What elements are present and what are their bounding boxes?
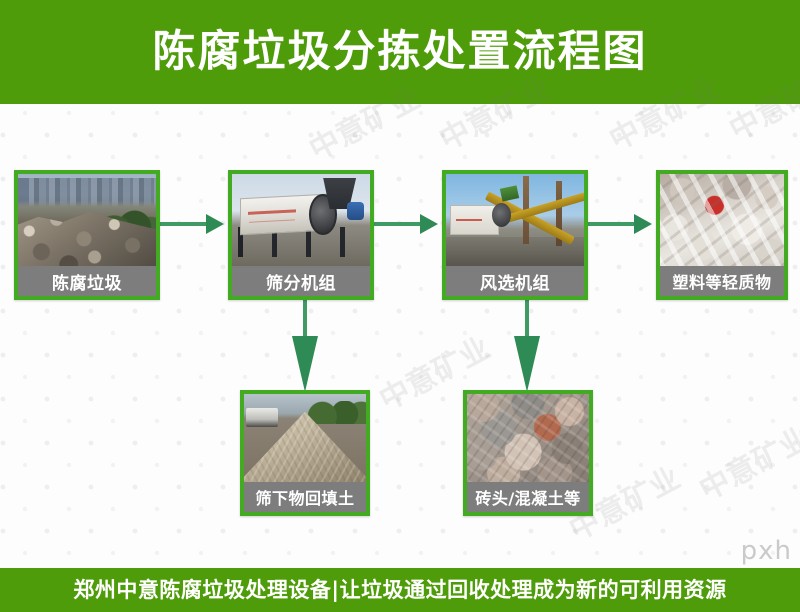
arrow-head-icon	[514, 336, 540, 392]
arrow-shaft	[586, 222, 636, 226]
flow-node-aged-waste[interactable]: 陈腐垃圾	[14, 170, 160, 300]
air-separation-plant-photo	[446, 174, 584, 266]
watermark-brand: pxh	[741, 536, 792, 566]
photo-art	[446, 174, 584, 266]
flow-node-label: 陈腐垃圾	[18, 266, 156, 296]
arrow-shaft	[372, 222, 422, 226]
footer-tagline: 郑州中意陈腐垃圾处理设备|让垃圾通过回收处理成为新的可利用资源	[73, 580, 726, 601]
watermark-diagonal: 中意矿业	[690, 414, 800, 509]
landfill-aged-waste-photo	[18, 174, 156, 266]
flow-node-light-plastics[interactable]: 塑料等轻质物	[656, 170, 788, 300]
plastic-light-material-photo	[660, 174, 784, 266]
photo-art	[18, 174, 156, 266]
tree-cluster-icon	[95, 194, 156, 251]
arrow-head-icon	[634, 214, 652, 234]
truck-icon	[246, 408, 278, 427]
arrow-head-icon	[292, 336, 318, 392]
green-chute-icon	[500, 185, 519, 201]
flow-node-label: 砖头/混凝土等	[467, 482, 589, 512]
arrow-shaft	[303, 300, 307, 340]
flow-node-label: 筛分机组	[232, 266, 370, 296]
flow-node-backfill-soil[interactable]: 筛下物回填土	[240, 390, 370, 516]
soil-pile-photo	[244, 394, 366, 482]
arrow-head-icon	[420, 214, 438, 234]
brick-concrete-rubble-photo	[467, 394, 589, 482]
trommel-screening-machine-photo	[232, 174, 370, 266]
footer-bar: 郑州中意陈腐垃圾处理设备|让垃圾通过回收处理成为新的可利用资源	[0, 568, 800, 612]
arrow-air-sorting-unit-to-light-plastics	[586, 214, 652, 234]
arrow-screening-unit-to-air-sorting-unit	[372, 214, 438, 234]
flow-node-label: 风选机组	[446, 266, 584, 296]
flow-node-screening-unit[interactable]: 筛分机组	[228, 170, 374, 300]
photo-art	[660, 174, 784, 266]
flow-node-air-sorting-unit[interactable]: 风选机组	[442, 170, 588, 300]
motor-icon	[347, 202, 365, 220]
arrow-head-icon	[206, 214, 224, 234]
arrow-shaft	[525, 300, 529, 340]
arrow-aged-waste-to-screening-unit	[158, 214, 224, 234]
tree-cluster-icon	[307, 401, 366, 424]
header-bar: 陈腐垃圾分拣处置流程图	[0, 0, 800, 104]
flow-node-brick-concrete[interactable]: 砖头/混凝土等	[463, 390, 593, 516]
photo-art	[232, 174, 370, 266]
photo-art	[244, 394, 366, 482]
arrow-screening-unit-to-backfill-soil	[292, 300, 318, 392]
photo-art	[467, 394, 589, 482]
flow-node-label: 筛下物回填土	[244, 482, 366, 512]
flowchart-page: 陈腐垃圾分拣处置流程图 中意矿业 中意矿业 中意矿业 中意矿业 中意矿业 中意矿…	[0, 0, 800, 612]
page-title: 陈腐垃圾分拣处置流程图	[153, 31, 648, 74]
arrow-air-sorting-unit-to-brick-concrete	[514, 300, 540, 392]
fan-icon	[492, 203, 511, 227]
flow-node-label: 塑料等轻质物	[660, 266, 784, 296]
arrow-shaft	[158, 222, 208, 226]
